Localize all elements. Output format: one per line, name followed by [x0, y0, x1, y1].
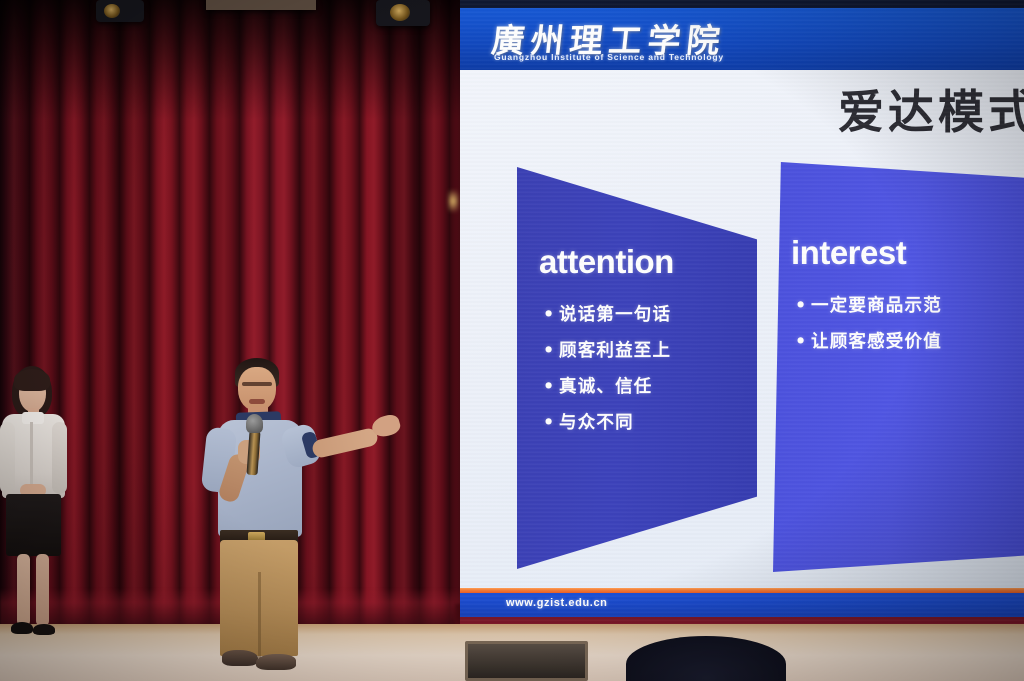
block-heading: attention: [539, 243, 674, 281]
collar: [22, 412, 44, 424]
auditorium-scene: 廣州理工学院 Guangzhou Institute of Science an…: [0, 0, 1024, 681]
black-skirt: [6, 494, 61, 556]
block-bullet-list: •一定要商品示范 •让顾客感受价值: [795, 292, 942, 364]
outstretched-arm: [311, 427, 379, 459]
ceiling-beam: [206, 0, 316, 10]
bullet-text: 真诚、信任: [559, 377, 653, 397]
bullet-text: 顾客利益至上: [559, 341, 671, 361]
slide-footer-bar: www.gzist.edu.cn: [460, 593, 1024, 617]
bullet-text: 一定要商品示范: [811, 296, 942, 316]
hair-fringe: [14, 369, 50, 391]
slide-header-banner: 廣州理工学院 Guangzhou Institute of Science an…: [460, 8, 1024, 70]
bullet-text: 让顾客感受价值: [811, 332, 942, 352]
stage-light-icon: [96, 0, 144, 22]
stage-light-icon: [376, 0, 430, 26]
slide-block-interest: interest •一定要商品示范 •让顾客感受价值: [773, 162, 1024, 572]
bullet-text: 与众不同: [559, 413, 634, 433]
trouser-seam: [258, 572, 261, 658]
female-staff-figure: [0, 366, 76, 648]
stage-light-lens: [104, 4, 120, 18]
floor-monitor-speaker: [465, 641, 588, 681]
face: [238, 367, 276, 411]
eyebrows: [242, 382, 272, 386]
block-bullet-list: •说话第一句话 •顾客利益至上 •真诚、信任 •与众不同: [543, 301, 671, 445]
list-item: •真诚、信任: [543, 373, 671, 398]
left-leg: [17, 554, 30, 626]
list-item: •顾客利益至上: [543, 337, 671, 362]
list-item: •一定要商品示范: [795, 292, 942, 317]
right-shoe: [256, 654, 296, 670]
right-arm: [52, 422, 67, 494]
slide-title: 爱达模式: [838, 76, 1024, 142]
block-heading: interest: [791, 234, 906, 272]
slide-footer-url: www.gzist.edu.cn: [506, 597, 607, 609]
slide-block-attention: attention •说话第一句话 •顾客利益至上 •真诚、信任 •与众不同: [517, 167, 757, 569]
edge-light-glow: [449, 190, 458, 212]
university-logo-en: Guangzhou Institute of Science and Techn…: [494, 52, 724, 62]
right-leg: [36, 554, 49, 626]
male-presenter-figure: [196, 358, 408, 680]
left-shoe: [11, 622, 33, 634]
list-item: •与众不同: [543, 409, 671, 434]
list-item: •让顾客感受价值: [795, 328, 942, 353]
microphone-head: [246, 414, 263, 433]
right-shoe: [33, 624, 55, 635]
mouth: [249, 399, 265, 404]
list-item: •说话第一句话: [543, 301, 671, 326]
left-shoe: [222, 650, 258, 666]
left-arm: [0, 422, 15, 494]
stage-light-lens: [390, 4, 410, 21]
bullet-text: 说话第一句话: [559, 305, 671, 325]
projection-screen: 廣州理工学院 Guangzhou Institute of Science an…: [460, 0, 1024, 627]
